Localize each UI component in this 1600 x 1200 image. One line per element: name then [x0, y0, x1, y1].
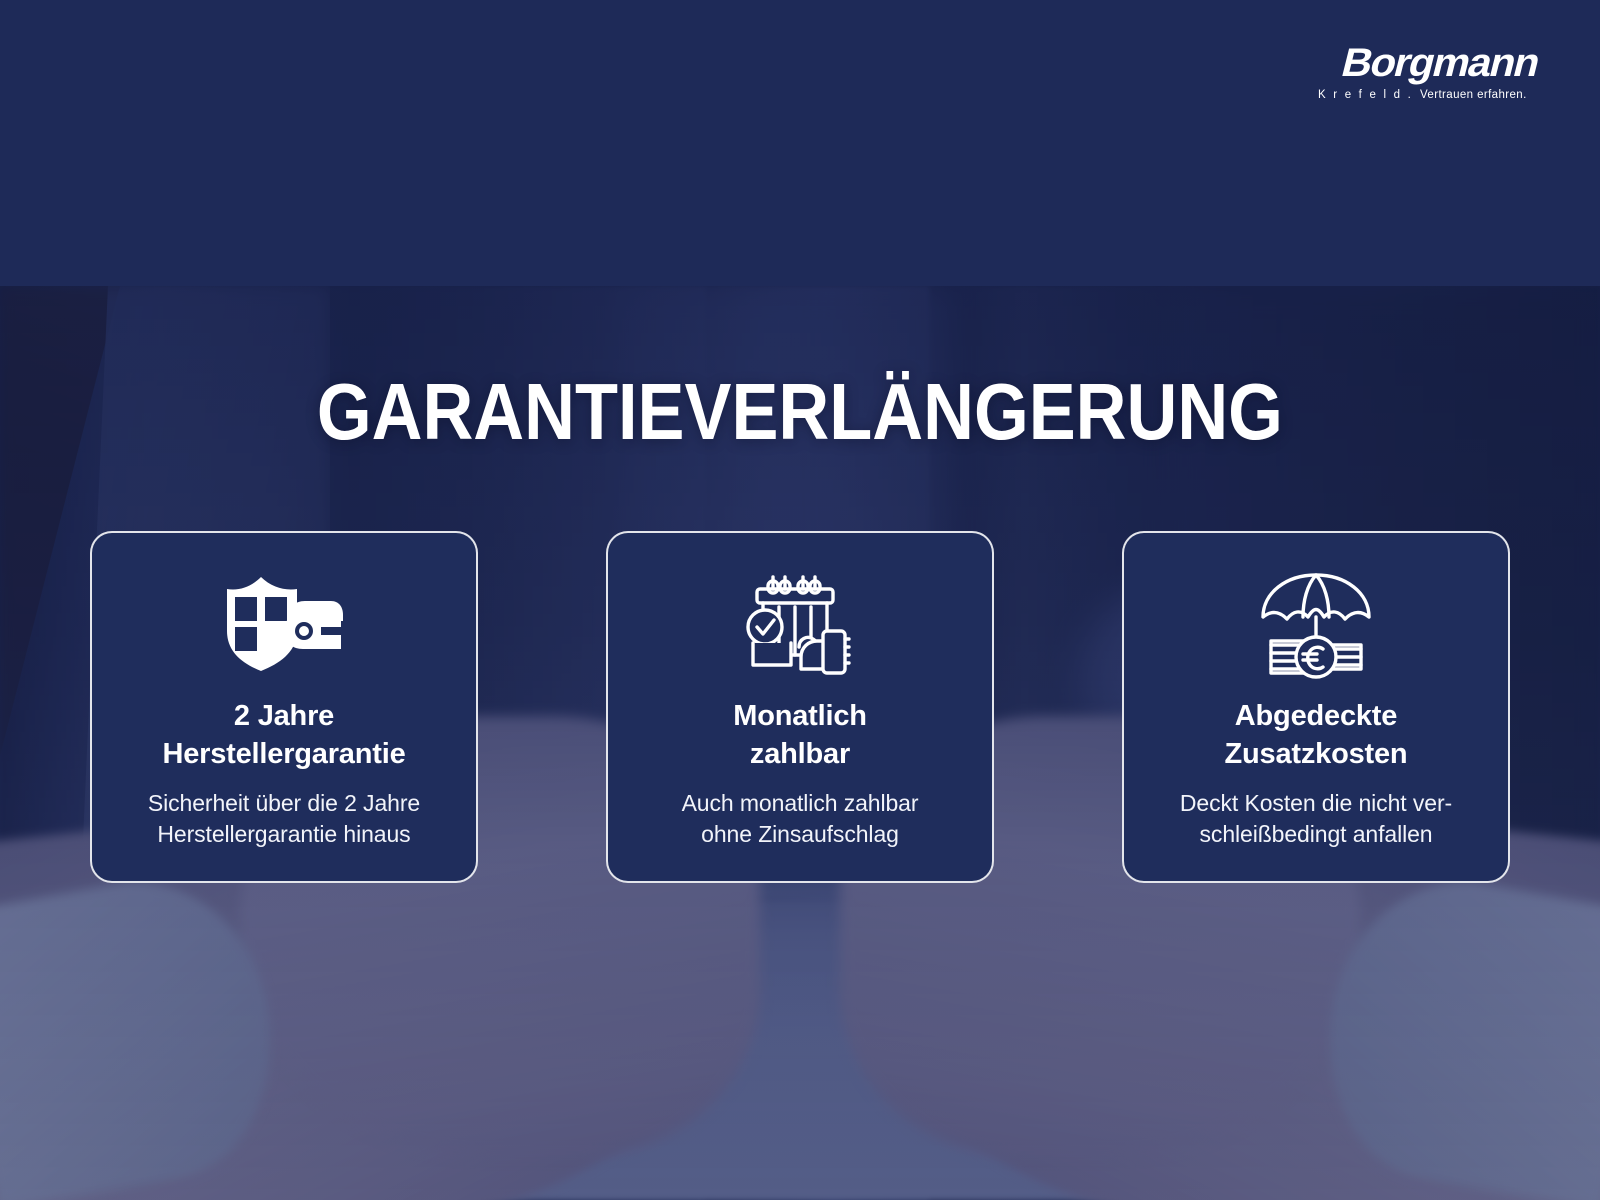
card-title-line-2: zahlbar — [750, 738, 850, 770]
card-title-line-1: 2 Jahre — [234, 700, 334, 732]
svg-text:Borgmann: Borgmann — [1337, 40, 1542, 84]
main-title-text: GARANTIEVERLÄNGERUNG — [317, 372, 1283, 452]
card-sub-line-1: Auch monatlich zahlbar — [682, 790, 919, 816]
card-title-line-2: Herstellergarantie — [162, 738, 405, 770]
card-subtitle: Sicherheit über die 2 Jahre Herstellerga… — [148, 788, 420, 851]
feature-card-zusatzkosten[interactable]: Abgedeckte Zusatzkosten Deckt Kosten die… — [1122, 531, 1510, 883]
card-sub-line-1: Sicherheit über die 2 Jahre — [148, 790, 420, 816]
borgmann-logo: Borgmann K r e f e l d . Vertrauen erfah… — [1312, 36, 1542, 110]
main-title: GARANTIEVERLÄNGERUNG — [0, 372, 1600, 452]
feature-cards: 2 Jahre Herstellergarantie Sicherheit üb… — [0, 531, 1600, 886]
card-title-line-2: Zusatzkosten — [1225, 738, 1408, 770]
calendar-hand-money-icon — [739, 569, 861, 681]
card-subtitle: Auch monatlich zahlbar ohne Zinsaufschla… — [682, 788, 919, 851]
card-title: Monatlich zahlbar — [733, 697, 867, 774]
shield-car-icon — [223, 569, 345, 681]
umbrella-euro-coins-icon — [1255, 569, 1377, 681]
feature-card-herstellergarantie[interactable]: 2 Jahre Herstellergarantie Sicherheit üb… — [90, 531, 478, 883]
card-title-line-1: Abgedeckte — [1235, 700, 1397, 732]
card-sub-line-2: ohne Zinsaufschlag — [701, 821, 899, 847]
card-title-line-1: Monatlich — [733, 700, 867, 732]
card-title: Abgedeckte Zusatzkosten — [1225, 697, 1408, 774]
feature-card-monatlich-zahlbar[interactable]: Monatlich zahlbar Auch monatlich zahlbar… — [606, 531, 994, 883]
card-sub-line-1: Deckt Kosten die nicht ver- — [1180, 790, 1452, 816]
svg-text:K r e f e l d .: K r e f e l d . — [1318, 89, 1413, 101]
svg-text:Vertrauen erfahren.: Vertrauen erfahren. — [1420, 89, 1527, 101]
promo-banner: Kennen Sie schon unsere VORSORGE-VERSICH… — [0, 0, 1600, 1200]
card-subtitle: Deckt Kosten die nicht ver- schleißbedin… — [1180, 788, 1452, 851]
card-title: 2 Jahre Herstellergarantie — [162, 697, 405, 774]
card-sub-line-2: Herstellergarantie hinaus — [157, 821, 410, 847]
card-sub-line-2: schleißbedingt anfallen — [1200, 821, 1433, 847]
